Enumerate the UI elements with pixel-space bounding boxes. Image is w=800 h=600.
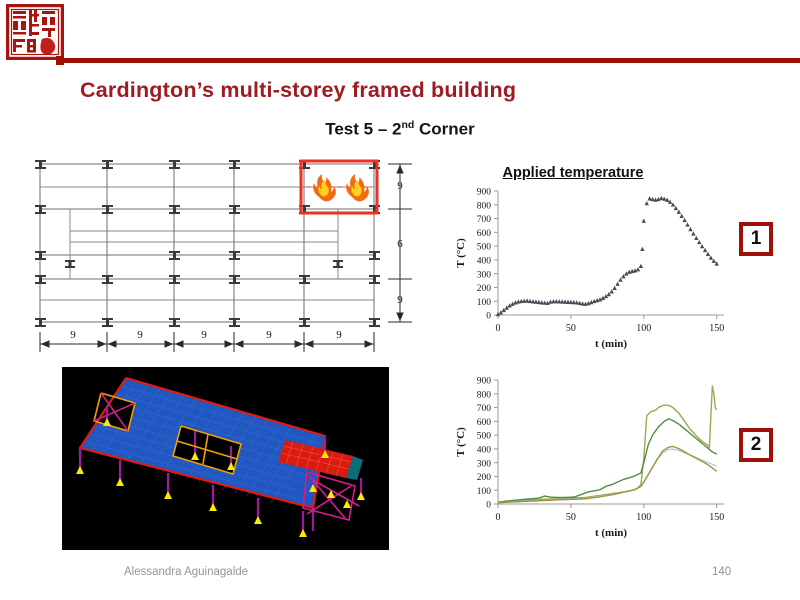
data-point [706, 252, 710, 256]
y-axis-label: T (°C) [455, 238, 467, 268]
data-point [677, 210, 681, 214]
series-line-0 [498, 386, 717, 503]
data-point [639, 264, 643, 268]
page-subtitle: Test 5 – 2nd Corner [80, 119, 720, 140]
x-axis-label: t (min) [595, 527, 627, 539]
series-line-2 [498, 449, 717, 502]
marker-badge-1: 1 [739, 222, 773, 256]
x-tick-label: 100 [636, 512, 651, 523]
x-tick-label: 100 [636, 323, 651, 334]
y-tick-label: 0 [486, 501, 491, 511]
subtitle-pre: Test 5 – 2 [325, 120, 401, 139]
slide: Cardington’s multi-storey framed buildin… [0, 0, 800, 600]
x-tick-label: 0 [496, 512, 501, 523]
y-tick-label: 600 [477, 418, 492, 428]
y-tick-label: 500 [477, 243, 492, 253]
y-tick-label: 300 [477, 459, 492, 469]
y-tick-label: 700 [477, 215, 492, 225]
y-tick-label: 400 [477, 445, 492, 455]
data-point [685, 222, 689, 226]
y-tick-label: 200 [477, 473, 492, 483]
measured-temperature-chart: 0100200300400500600700800900050100150t (… [452, 372, 742, 552]
y-tick-label: 100 [477, 487, 492, 497]
header-rule [60, 58, 800, 63]
y-tick-label: 0 [486, 312, 491, 322]
x-tick-label: 150 [709, 323, 724, 334]
y-tick-label: 500 [477, 432, 492, 442]
fire-icon [346, 174, 369, 201]
data-point [680, 214, 684, 218]
data-point [691, 231, 695, 235]
subtitle-post: Corner [414, 120, 474, 139]
applied-temperature-chart: Applied temperature 01002003004005006007… [452, 165, 742, 360]
plan-dim-y-0: 9 [397, 180, 403, 192]
fire-icon [313, 174, 336, 201]
y-tick-label: 800 [477, 201, 492, 211]
marker-badge-2: 2 [739, 428, 773, 462]
fem-3d-model [62, 367, 389, 550]
x-axis-label: t (min) [595, 338, 627, 350]
plan-dim-y-1: 6 [397, 238, 403, 250]
horizontal-dimension-chain [40, 332, 374, 352]
y-tick-label: 200 [477, 284, 492, 294]
chinese-seal-logo [6, 4, 64, 60]
y-tick-label: 800 [477, 390, 492, 400]
x-tick-label: 150 [709, 512, 724, 523]
plan-dim-x-3: 9 [266, 329, 272, 341]
chart2-plot: 0100200300400500600700800900050100150t (… [452, 372, 742, 544]
data-point [697, 240, 701, 244]
data-point [682, 218, 686, 222]
y-tick-label: 900 [477, 188, 492, 198]
data-point [645, 201, 649, 205]
y-axis-label: T (°C) [455, 427, 467, 457]
data-point [694, 236, 698, 240]
y-tick-label: 300 [477, 270, 492, 280]
y-tick-label: 900 [477, 377, 492, 387]
footer-page-number: 140 [712, 566, 731, 578]
data-point [612, 286, 616, 290]
data-point [615, 282, 619, 286]
data-point [642, 218, 646, 222]
subtitle-ordinal: nd [401, 119, 414, 131]
y-tick-label: 100 [477, 298, 492, 308]
data-point [709, 255, 713, 259]
y-tick-label: 400 [477, 256, 492, 266]
y-tick-label: 600 [477, 229, 492, 239]
x-tick-label: 50 [566, 323, 576, 334]
chart1-title: Applied temperature [452, 165, 742, 181]
series-line-1 [498, 419, 717, 502]
data-point [640, 247, 644, 251]
x-tick-label: 50 [566, 512, 576, 523]
footer-author: Alessandra Aguinagalde [124, 566, 248, 578]
plan-dim-x-4: 9 [336, 329, 342, 341]
data-point [703, 248, 707, 252]
plan-dim-x-1: 9 [137, 329, 143, 341]
x-tick-label: 0 [496, 323, 501, 334]
plan-dim-x-0: 9 [70, 329, 76, 341]
y-tick-label: 700 [477, 404, 492, 414]
data-point [700, 244, 704, 248]
structural-floor-plan: 9 6 9 9 [22, 152, 422, 357]
data-point [688, 227, 692, 231]
page-title: Cardington’s multi-storey framed buildin… [80, 78, 720, 103]
chart1-plot: 0100200300400500600700800900050100150t (… [452, 183, 742, 355]
plan-dim-x-2: 9 [201, 329, 207, 341]
plan-dim-y-2: 9 [397, 294, 403, 306]
